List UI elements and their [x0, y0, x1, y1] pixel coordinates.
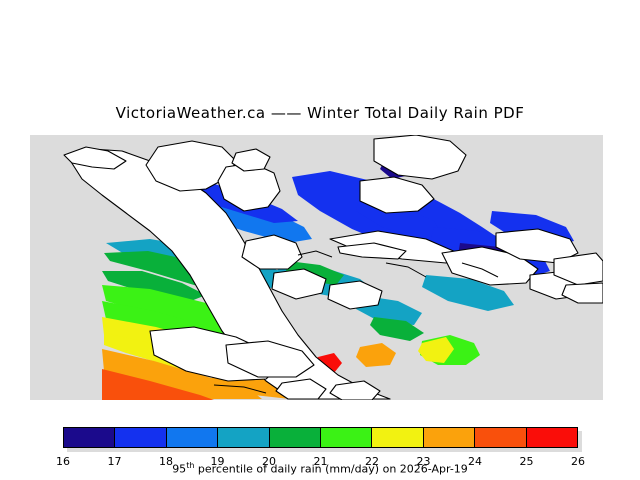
colorbar-segment-17-18[interactable]: [115, 428, 166, 447]
coast-accent-b: [386, 263, 426, 277]
colorbar[interactable]: [63, 427, 578, 448]
colorbar-segment-21-22[interactable]: [321, 428, 372, 447]
land-gulf-island-c: [328, 281, 382, 309]
region-island-orange-spot: [356, 343, 396, 367]
colorbar-caption: 95th percentile of daily rain (mm/day) o…: [0, 461, 640, 476]
colorbar-segment-16-17[interactable]: [64, 428, 115, 447]
colorbar-segment-18-19[interactable]: [167, 428, 218, 447]
caption-text: percentile of daily rain (mm/day) on 202…: [194, 463, 467, 476]
colorbar-segment-25-26[interactable]: [527, 428, 577, 447]
map-panel[interactable]: [30, 135, 603, 400]
colorbar-segments[interactable]: [63, 427, 578, 448]
colorbar-segment-19-20[interactable]: [218, 428, 269, 447]
coast-accent-a: [298, 251, 332, 257]
caption-percentile-number: 95: [172, 463, 186, 476]
colorbar-segment-20-21[interactable]: [270, 428, 321, 447]
page-title: VictoriaWeather.ca —— Winter Total Daily…: [0, 104, 640, 122]
map-canvas[interactable]: [30, 135, 603, 400]
land-far-right-strip-b: [562, 283, 603, 303]
colorbar-segment-22-23[interactable]: [372, 428, 423, 447]
colorbar-segment-24-25[interactable]: [475, 428, 526, 447]
colorbar-segment-23-24[interactable]: [424, 428, 475, 447]
